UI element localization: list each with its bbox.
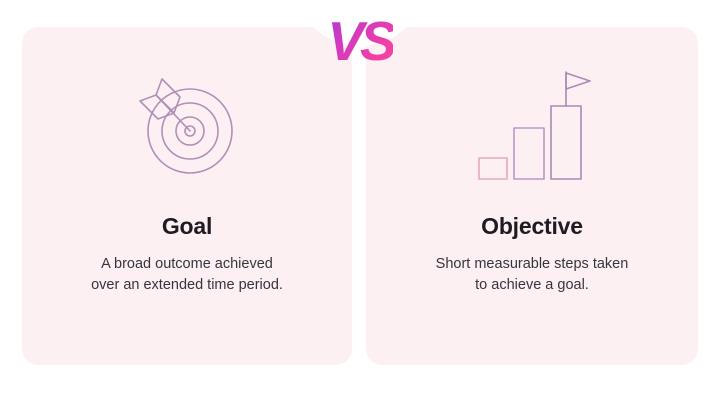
goal-icon-container xyxy=(128,55,246,195)
bar-medium xyxy=(514,128,544,179)
card-goal-title: Goal xyxy=(162,213,212,240)
flag-pennant xyxy=(566,73,590,89)
target-arrow-icon xyxy=(128,69,246,181)
bar-chart-flag-icon xyxy=(473,66,591,184)
card-goal-description: A broad outcome achieved over an extende… xyxy=(65,254,309,296)
card-objective: Objective Short measurable steps taken t… xyxy=(366,27,698,365)
comparison-diagram: Goal A broad outcome achieved over an ex… xyxy=(0,0,720,401)
bar-small xyxy=(479,158,507,179)
card-goal-description-line: over an extended time period. xyxy=(91,275,283,296)
bar-large xyxy=(551,106,581,179)
card-objective-description-line: Short measurable steps taken xyxy=(436,254,629,275)
card-objective-description-line: to achieve a goal. xyxy=(436,275,629,296)
card-objective-title: Objective xyxy=(481,213,583,240)
card-objective-description: Short measurable steps taken to achieve … xyxy=(410,254,655,296)
objective-icon-container xyxy=(473,55,591,195)
card-goal-description-line: A broad outcome achieved xyxy=(91,254,283,275)
card-goal: Goal A broad outcome achieved over an ex… xyxy=(22,27,352,365)
